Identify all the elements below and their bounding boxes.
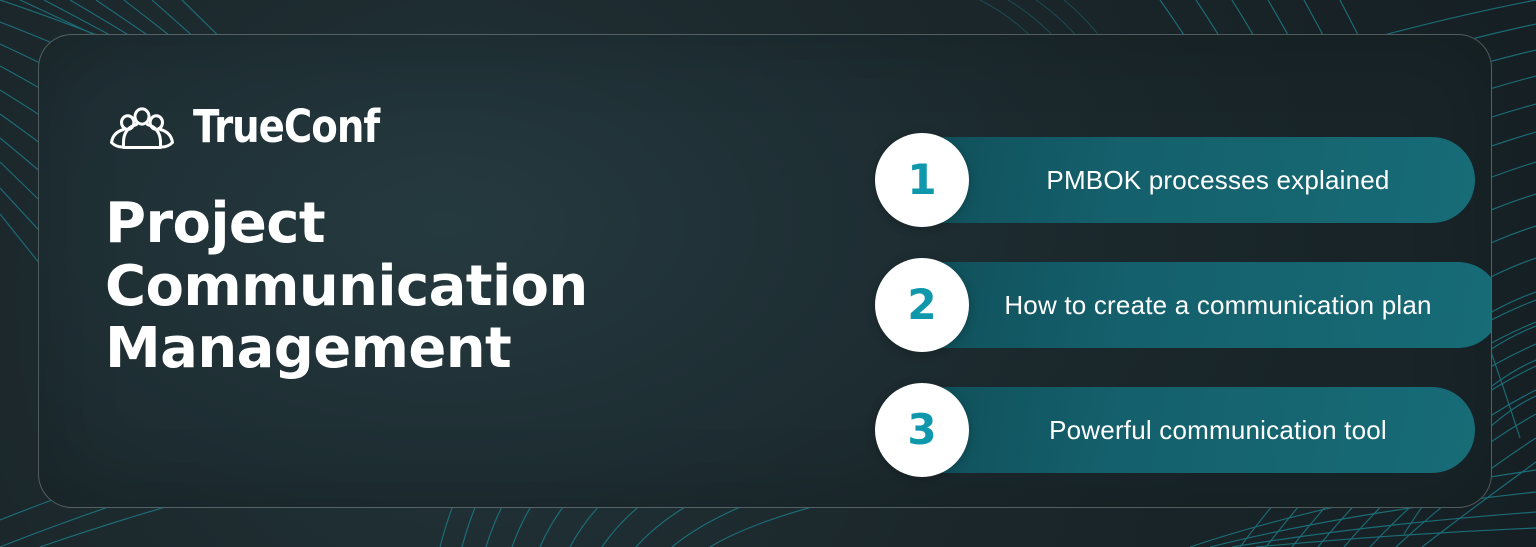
banner-stage: TrueConf Project Communication Managemen… <box>0 0 1536 547</box>
list-item[interactable]: 2 How to create a communication plan <box>875 256 1475 354</box>
list-item-label: Powerful communication tool <box>969 415 1475 446</box>
list-item-number: 1 <box>907 159 936 201</box>
page-title-line-1: Project <box>105 193 745 256</box>
page-title-line-3: Management <box>105 318 745 381</box>
list-item-number-badge: 1 <box>875 133 969 227</box>
page-title-line-2: Communication <box>105 256 745 319</box>
list-item-number-badge: 2 <box>875 258 969 352</box>
list-item-number-badge: 3 <box>875 383 969 477</box>
topic-list: 1 PMBOK processes explained 2 How to cre… <box>875 131 1475 479</box>
list-item-number: 3 <box>907 409 936 451</box>
card-left-column: TrueConf Project Communication Managemen… <box>105 97 745 381</box>
list-item-label: How to create a communication plan <box>969 290 1475 321</box>
brand-logo[interactable]: TrueConf <box>105 97 745 155</box>
brand-name: TrueConf <box>193 104 379 149</box>
content-card: TrueConf Project Communication Managemen… <box>38 34 1492 508</box>
list-item-label: PMBOK processes explained <box>969 165 1475 196</box>
list-item-number: 2 <box>907 284 936 326</box>
list-item[interactable]: 1 PMBOK processes explained <box>875 131 1475 229</box>
page-title: Project Communication Management <box>105 193 745 381</box>
list-item[interactable]: 3 Powerful communication tool <box>875 381 1475 479</box>
three-people-icon <box>105 102 179 150</box>
